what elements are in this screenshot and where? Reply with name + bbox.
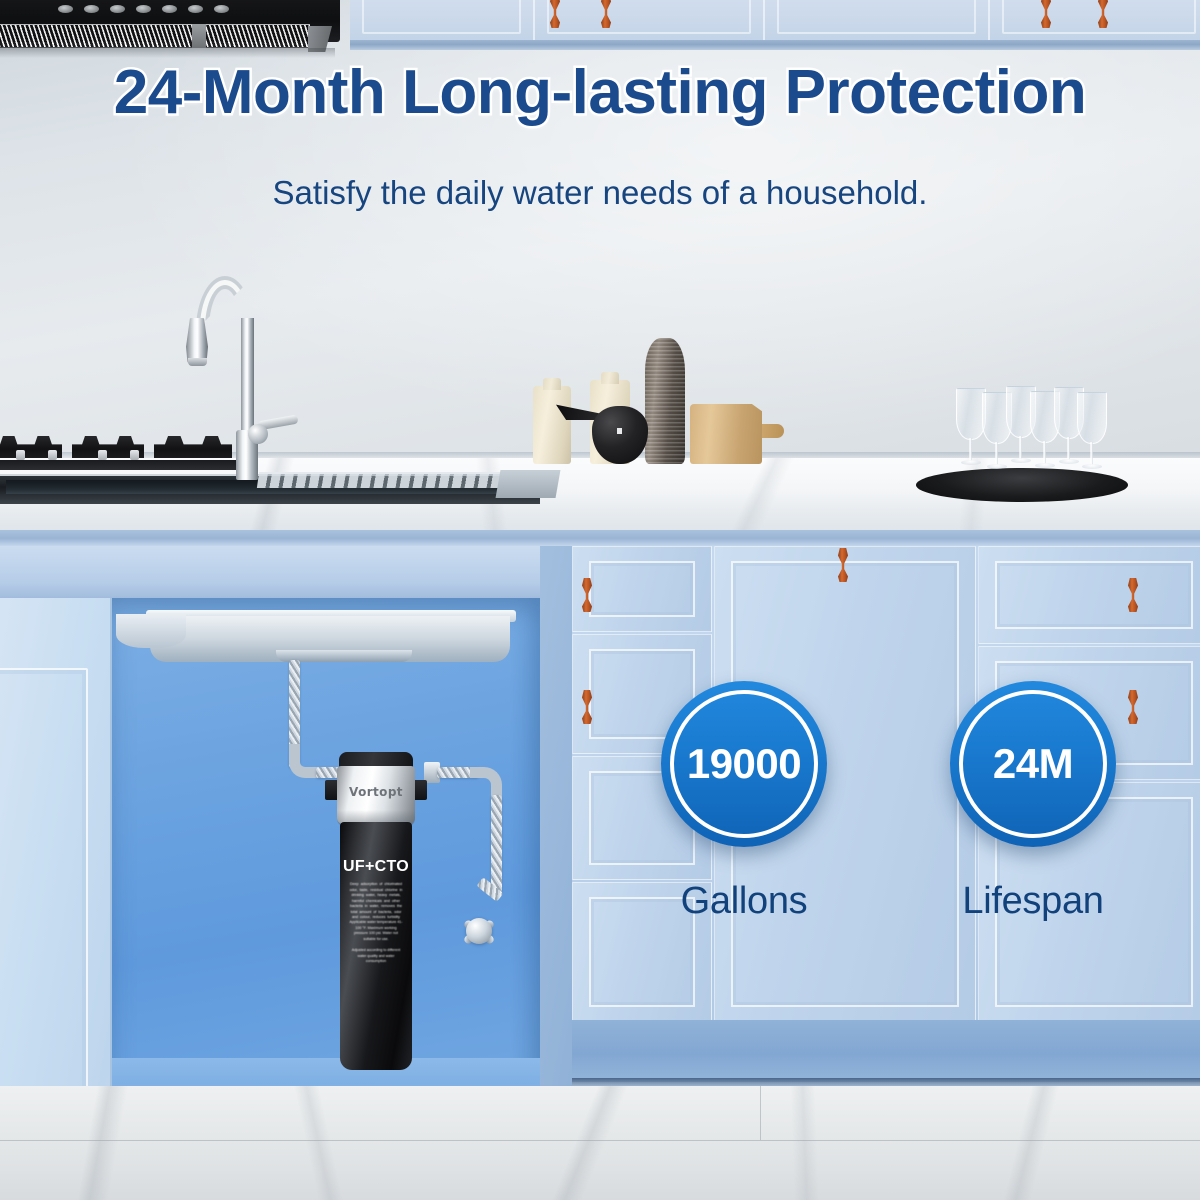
filter-brand-label: Vortopt [337, 785, 415, 799]
filter-outlet-port [413, 780, 427, 800]
teapot-emblem [617, 428, 622, 434]
hood-light-icon [84, 5, 99, 13]
wine-glass-foot [987, 464, 1007, 469]
ribbed-vase [645, 338, 685, 464]
burner-cap [98, 450, 107, 460]
hood-light-icon [58, 5, 73, 13]
upper-cabinet-door [535, 0, 765, 44]
cabinet-toe-kick [560, 1020, 1200, 1082]
hood-light-icon [110, 5, 125, 13]
burner-cap [130, 450, 139, 460]
hood-light-icon [136, 5, 151, 13]
wine-glass-foot [1011, 458, 1031, 463]
toe-kick-shadow [560, 1078, 1200, 1086]
faucet-lever-hub [248, 424, 268, 444]
stat-badge-lifespan: 24M [950, 681, 1116, 847]
wooden-cutting-board [690, 404, 762, 464]
stat-badge-value: 19000 [687, 740, 801, 788]
range-hood-grille-seam [192, 24, 206, 48]
wine-glass-bowl [1077, 392, 1107, 444]
burner-cap [16, 450, 25, 460]
water-filter-unit: Vortopt UF+CTO Deep adsorption of chlori… [333, 752, 419, 1072]
ceramic-jar-neck [543, 378, 561, 390]
upper-cabinet-door [765, 0, 990, 44]
filter-spec-text-1: Deep adsorption of chlorinated odor, tas… [347, 882, 405, 921]
sink-drain-board [257, 472, 521, 488]
upper-cabinet-bottom-rail [350, 40, 1200, 50]
filter-spec-text-3: Adjusted according to different water qu… [349, 948, 403, 965]
range-hood-grille [0, 24, 310, 48]
round-black-tray [916, 468, 1128, 502]
faucet-aerator [188, 358, 207, 366]
product-marketing-image: 24-Month Long-lasting Protection Satisfy… [0, 0, 1200, 1200]
wine-glass-stem [1090, 442, 1093, 466]
shutoff-valve-handle[interactable] [466, 918, 492, 944]
wine-glass-foot [1082, 464, 1102, 469]
burner-grate [154, 436, 232, 458]
under-sink-cabinet-top-rail [0, 546, 570, 598]
floor-veining [0, 1086, 1200, 1200]
burner-cap [48, 450, 57, 460]
ceramic-jar [533, 386, 571, 464]
hood-light-icon [188, 5, 203, 13]
hood-light-icon [162, 5, 177, 13]
hood-light-icon [214, 5, 229, 13]
under-sink-cabinet-interior [110, 598, 540, 1118]
sink-right-edge [496, 470, 561, 498]
lower-cabinet-drawer [572, 546, 712, 632]
under-sink-cabinet-door[interactable] [0, 598, 112, 1158]
wine-glass-stem [1019, 436, 1022, 460]
lower-cabinet-drawer [978, 546, 1200, 644]
floor-tile-seam [760, 1086, 761, 1140]
upper-cabinet-row [350, 0, 1200, 44]
stat-label-gallons: Gallons [624, 880, 864, 923]
faucet-column [241, 318, 254, 438]
cooktop-glass-surface [0, 460, 240, 470]
sink-underside-left-bowl [116, 614, 186, 648]
wine-glass-stem [969, 438, 972, 462]
stat-label-lifespan: Lifespan [913, 880, 1153, 923]
upper-cabinet-door [990, 0, 1200, 44]
outlet-hose-vertical [491, 795, 502, 893]
stat-badge-gallons: 19000 [661, 681, 827, 847]
ceramic-jar-neck [601, 372, 619, 384]
wine-glass-stem [995, 442, 998, 466]
range-hood-shadow [0, 48, 335, 58]
filter-spec-text-2: Applicable water temperature 41-100 °F. … [349, 920, 403, 942]
under-sink-cabinet-right-stile [540, 546, 572, 1146]
wine-glass-foot [1059, 459, 1079, 464]
wine-glass-stem [1067, 437, 1070, 461]
floor-tile-seam [0, 1140, 1200, 1141]
upper-cabinet-door [350, 0, 535, 44]
wine-glass-stem [1043, 441, 1046, 465]
filter-model-label: UF+CTO [340, 858, 412, 876]
wine-glass-foot [1035, 463, 1055, 468]
range-hood-light-row [58, 5, 229, 13]
wine-glass [1077, 392, 1107, 470]
stat-badge-value: 24M [993, 740, 1073, 788]
wine-glass-foot [961, 460, 981, 465]
countertop-front-lip [0, 530, 1200, 546]
page-subtitle: Satisfy the daily water needs of a house… [0, 174, 1200, 212]
page-title: 24-Month Long-lasting Protection [0, 60, 1200, 126]
